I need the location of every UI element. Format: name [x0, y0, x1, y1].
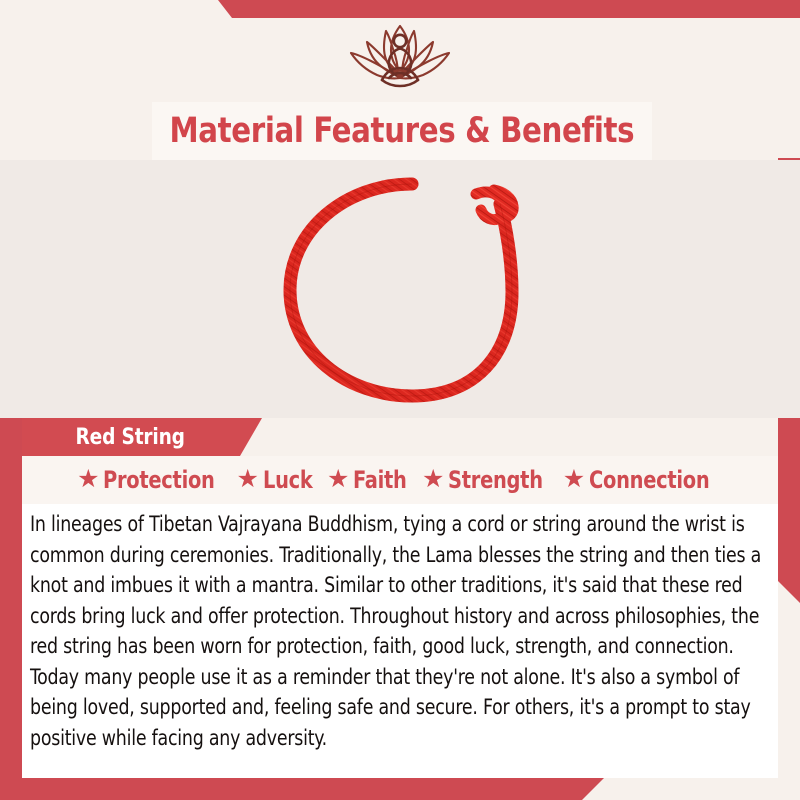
red-string-bracelet-image [262, 168, 562, 418]
benefit-label: Faith [353, 466, 407, 494]
product-feature-poster: BUDDHA STONES Material Features & Benefi… [0, 0, 800, 800]
benefits-list: ★ Protection ★ Luck ★ Faith ★ Strength ★… [22, 456, 778, 504]
benefit-item-luck: ★ Luck [237, 466, 319, 494]
benefit-item-faith: ★ Faith [327, 466, 413, 494]
title-band: Material Features & Benefits [152, 102, 652, 160]
benefit-label: Luck [263, 466, 313, 494]
star-icon: ★ [237, 467, 259, 492]
bottom-accent-bar [0, 778, 604, 800]
benefit-label: Strength [448, 466, 543, 494]
product-name-label: Red String [75, 425, 184, 450]
page-title: Material Features & Benefits [170, 111, 635, 151]
star-icon: ★ [563, 467, 585, 492]
star-icon: ★ [77, 467, 99, 492]
benefit-item-strength: ★ Strength [422, 466, 554, 494]
top-accent-bar [218, 0, 800, 18]
product-photo [0, 160, 800, 418]
description-card: In lineages of Tibetan Vajrayana Buddhis… [22, 504, 778, 778]
description-paragraph: In lineages of Tibetan Vajrayana Buddhis… [30, 510, 763, 754]
benefit-item-protection: ★ Protection [77, 466, 227, 494]
star-icon: ★ [327, 467, 349, 492]
benefit-item-connection: ★ Connection [563, 466, 723, 494]
benefit-label: Protection [103, 466, 215, 494]
product-name-ribbon: Red String [22, 418, 262, 456]
benefit-label: Connection [589, 466, 709, 494]
star-icon: ★ [422, 467, 444, 492]
lotus-meditation-icon [325, 20, 475, 98]
